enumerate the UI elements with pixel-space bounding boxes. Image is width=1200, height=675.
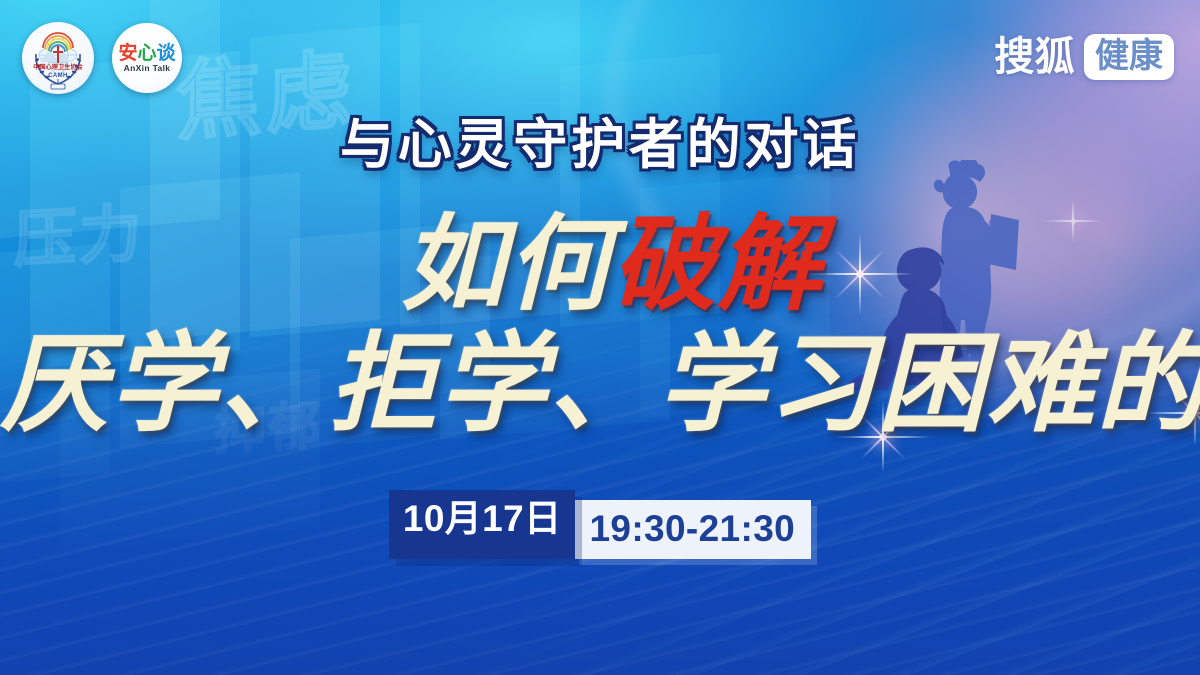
camh-emblem-icon: 中国心理卫生协会 CAMH	[22, 22, 94, 94]
sohu-health-badge: 健康	[1084, 34, 1174, 80]
anxin-char-an: 安	[118, 43, 137, 64]
headline-line-1: 如何破解	[24, 212, 1200, 316]
anxin-cn-text: 安心谈	[118, 44, 175, 63]
headline-line1-cream: 如何	[401, 202, 612, 325]
anxin-talk-logo-icon: 安心谈 AnXin Talk	[112, 23, 182, 93]
headline-line-2: 厌学、拒学、学习困难的困局	[0, 330, 1200, 438]
page-kicker: 与心灵守护者的对话	[0, 118, 1200, 172]
sohu-wordmark: 搜狐	[994, 37, 1075, 77]
headline-line1-red: 破解	[612, 202, 823, 325]
event-time-chip: 19:30-21:30	[573, 500, 811, 559]
anxin-char-xin: 心	[137, 43, 156, 64]
logo-row: 中国心理卫生协会 CAMH 安心谈 AnXin Talk	[22, 22, 182, 94]
anxin-en-text: AnXin Talk	[124, 64, 171, 73]
anxin-char-tan: 谈	[157, 43, 176, 64]
promo-banner: 焦虑 压力 抑郁	[0, 0, 1200, 675]
event-date-chip: 10月17日	[389, 490, 576, 559]
camh-cn-name: 中国心理卫生协会	[33, 63, 83, 71]
camh-acronym: CAMH	[48, 73, 68, 79]
headline-line2-cream: 厌学、拒学、学习困难的	[0, 321, 1200, 447]
sohu-health-lockup: 搜狐 健康	[994, 34, 1174, 80]
schedule-strip: 10月17日 19:30-21:30	[0, 490, 1200, 559]
page-title: 如何破解 厌学、拒学、学习困难的困局	[0, 212, 1200, 438]
